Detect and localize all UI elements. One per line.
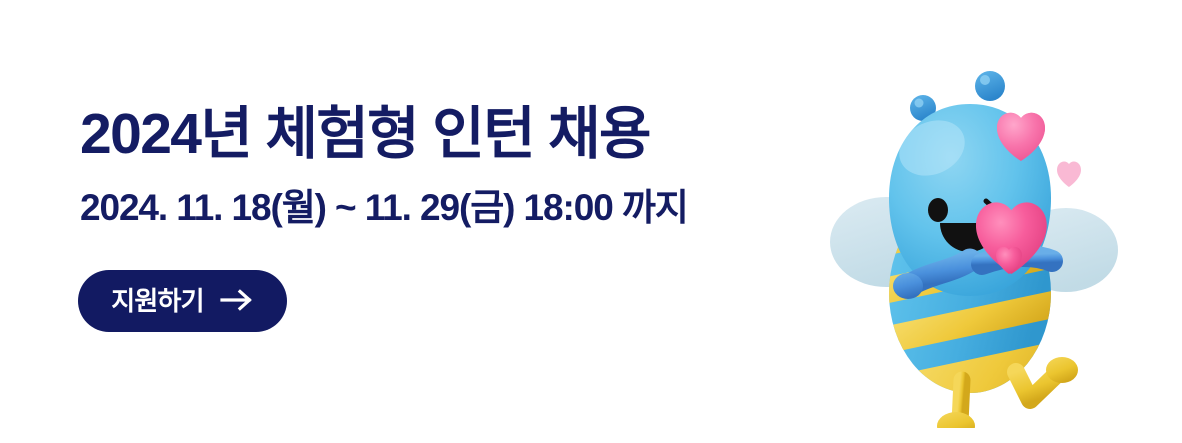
page-title: 2024년 체험형 인턴 채용 <box>80 104 800 164</box>
arrow-right-icon <box>220 288 254 315</box>
bee-character <box>820 28 1120 428</box>
apply-button-label: 지원하기 <box>111 288 203 314</box>
leg-left <box>937 380 975 428</box>
heart-tiny <box>1057 162 1081 187</box>
banner-text-block: 2024년 체험형 인턴 채용 2024. 11. 18(월) ~ 11. 29… <box>80 104 800 229</box>
eye-left <box>928 198 948 222</box>
application-period: 2024. 11. 18(월) ~ 11. 29(금) 18:00 까지 <box>80 188 800 229</box>
recruitment-banner: 2024년 체험형 인턴 채용 2024. 11. 18(월) ~ 11. 29… <box>0 0 1182 443</box>
apply-button[interactable]: 지원하기 <box>78 270 287 332</box>
